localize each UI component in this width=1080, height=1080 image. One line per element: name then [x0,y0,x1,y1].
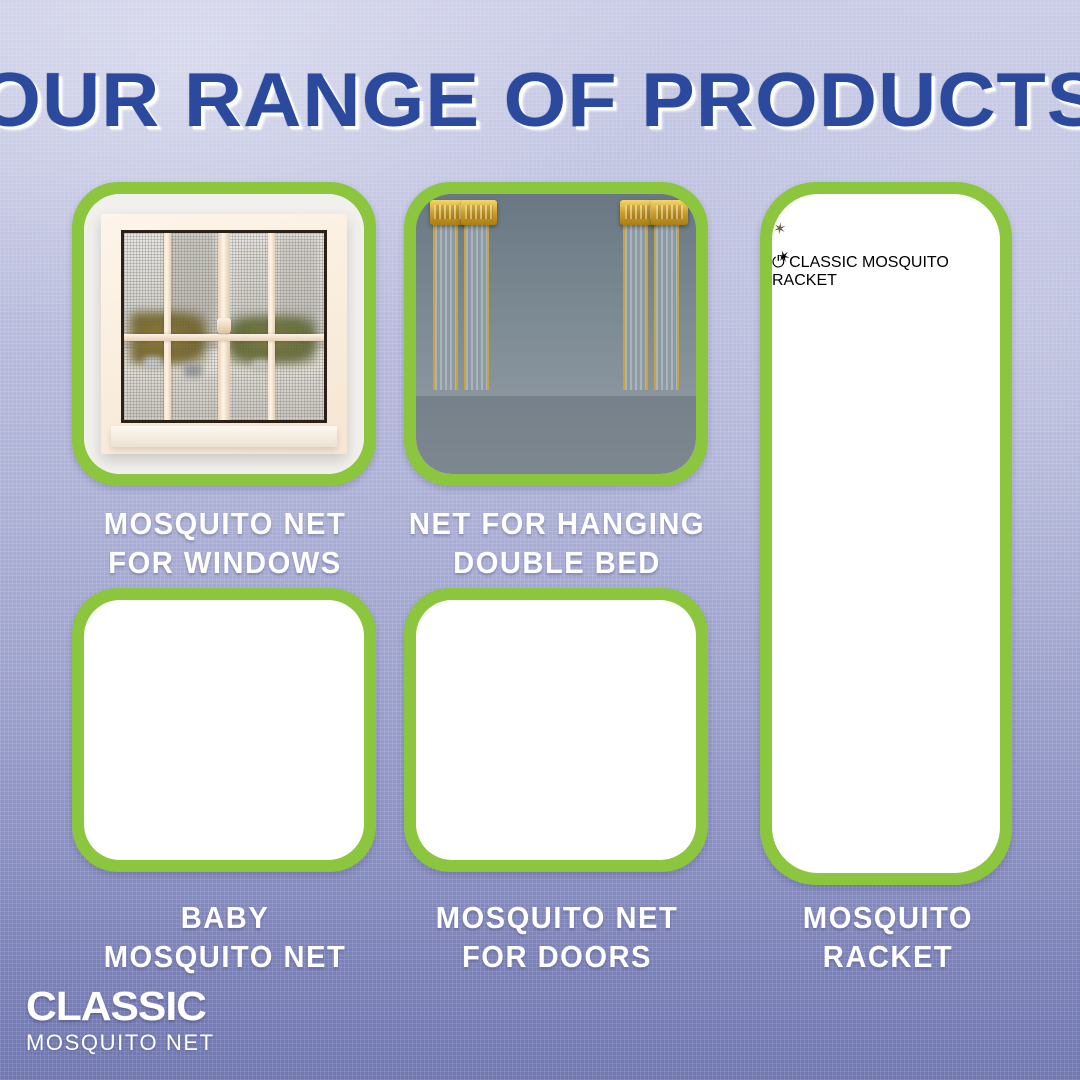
product-card-mosquito-net-for-doors[interactable] [404,588,708,872]
product-card-mosquito-racket[interactable]: ✶ ✶ ✶ ⏻ CLASSIC MOSQUITO RACKET [760,182,1012,885]
product-label-mosquito-racket: MOSQUITO RACKET [756,898,1019,976]
product-label-baby-mosquito-net: BABY MOSQUITO NET [70,898,380,976]
product-card-baby-mosquito-net[interactable] [72,588,376,872]
product-label-mosquito-net-for-doors: MOSQUITO NET FOR DOORS [402,898,712,976]
brand-logo-tagline: MOSQUITO NET [26,1030,215,1056]
product-label-net-for-hanging-double-bed: NET FOR HANGING DOUBLE BED [402,504,712,582]
product-image-mosquito-net-for-doors [416,600,696,860]
product-card-net-for-hanging-double-bed[interactable] [404,182,708,486]
page-title: OUR RANGE OF PRODUCTS [0,58,1080,144]
product-image-mosquito-net-for-windows [84,194,364,474]
brand-logo-name: CLASSIC [26,985,222,1027]
brand-logo: CLASSIC MOSQUITO NET [26,985,215,1056]
product-card-mosquito-net-for-windows[interactable] [72,182,376,486]
product-image-mosquito-racket: ✶ ✶ ✶ ⏻ CLASSIC MOSQUITO RACKET [772,194,1000,873]
product-label-mosquito-net-for-windows: MOSQUITO NET FOR WINDOWS [70,504,380,582]
product-range-poster: OUR RANGE OF PRODUCTS [0,0,1080,1080]
product-image-baby-mosquito-net [84,600,364,860]
product-image-net-for-hanging-double-bed [416,194,696,474]
